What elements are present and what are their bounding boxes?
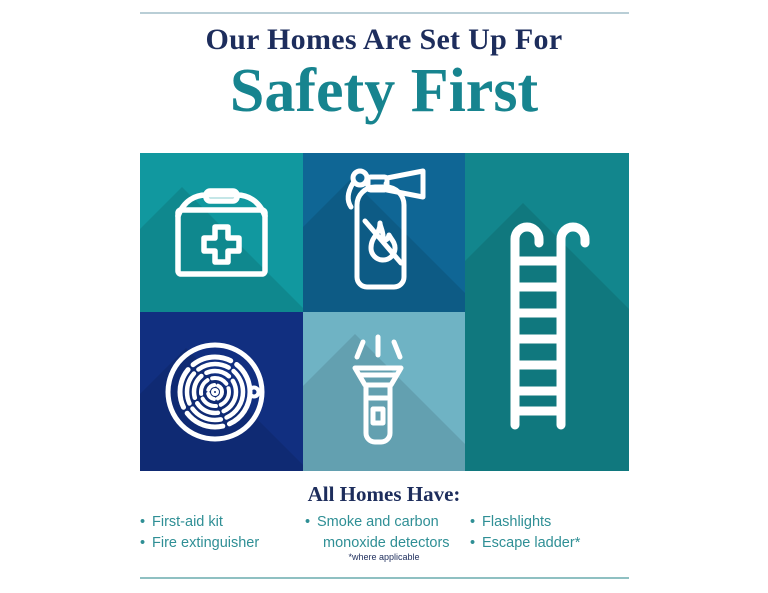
smoke-detector-icon bbox=[140, 312, 303, 471]
checklist-column-3: • Flashlights • Escape ladder* bbox=[470, 512, 635, 553]
title-block: Our Homes Are Set Up For Safety First bbox=[0, 24, 768, 124]
list-item: • Escape ladder* bbox=[470, 533, 635, 554]
bullet-icon: • bbox=[305, 512, 310, 533]
icon-grid bbox=[140, 153, 629, 471]
grid-cell-smoke-detector bbox=[140, 312, 303, 471]
section-heading: All Homes Have: bbox=[0, 482, 768, 507]
safety-first-infographic: Our Homes Are Set Up For Safety First bbox=[0, 0, 768, 593]
list-item: • Smoke and carbon monoxide detectors bbox=[305, 512, 470, 553]
list-item-label: Smoke and carbon bbox=[317, 514, 439, 530]
list-item-label: Flashlights bbox=[482, 514, 551, 530]
bottom-divider-rule bbox=[140, 577, 629, 579]
bullet-icon: • bbox=[140, 512, 145, 533]
list-item-label: Escape ladder* bbox=[482, 535, 580, 551]
grid-cell-escape-ladder bbox=[465, 153, 629, 471]
grid-cell-first-aid-kit bbox=[140, 153, 303, 312]
fire-extinguisher-icon bbox=[303, 153, 465, 312]
first-aid-kit-icon bbox=[140, 153, 303, 312]
list-item-label: First-aid kit bbox=[152, 514, 223, 530]
grid-cell-flashlight bbox=[303, 312, 465, 471]
list-item-label: Fire extinguisher bbox=[152, 535, 259, 551]
checklist-columns: • First-aid kit • Fire extinguisher • Sm… bbox=[140, 512, 640, 553]
list-item: • Flashlights bbox=[470, 512, 635, 533]
grid-cell-fire-extinguisher bbox=[303, 153, 465, 312]
bullet-icon: • bbox=[470, 533, 475, 554]
list-item-label-continued: monoxide detectors bbox=[317, 533, 470, 554]
list-item: • Fire extinguisher bbox=[140, 533, 305, 554]
bullet-icon: • bbox=[470, 512, 475, 533]
checklist-column-2: • Smoke and carbon monoxide detectors bbox=[305, 512, 470, 553]
title-line-1: Our Homes Are Set Up For bbox=[0, 24, 768, 56]
bullet-icon: • bbox=[140, 533, 145, 554]
checklist-column-1: • First-aid kit • Fire extinguisher bbox=[140, 512, 305, 553]
flashlight-icon bbox=[303, 312, 465, 471]
top-divider-rule bbox=[140, 12, 629, 14]
footnote: *where applicable bbox=[0, 552, 768, 562]
list-item: • First-aid kit bbox=[140, 512, 305, 533]
title-line-2: Safety First bbox=[0, 58, 768, 125]
escape-ladder-icon bbox=[465, 153, 629, 471]
